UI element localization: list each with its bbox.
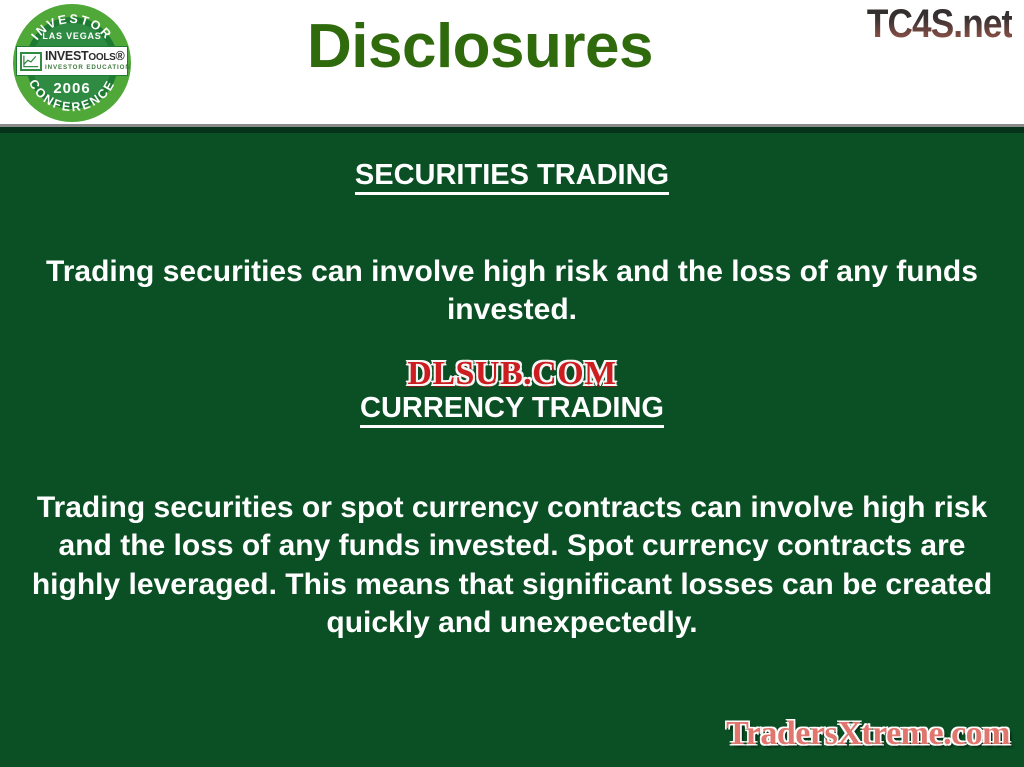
- section-heading-securities-trading: SECURITIES TRADING: [0, 159, 1024, 192]
- section-heading-currency-trading-text: CURRENCY TRADING: [360, 392, 664, 428]
- investools-wordmark: INVESTOOLS®: [45, 50, 131, 63]
- section-body-securities-trading: Trading securities can involve high risk…: [36, 253, 988, 330]
- chart-icon: [20, 52, 42, 71]
- tc4s-wordmark: TC4S.net: [866, 2, 1012, 47]
- section-body-currency-trading: Trading securities or spot currency cont…: [26, 489, 998, 643]
- section-heading-securities-trading-text: SECURITIES TRADING: [355, 159, 669, 195]
- investools-badge: INVESTOOLS® INVESTOR EDUCATION: [16, 46, 128, 76]
- slide-header: INVESTOR CONFERENCE LAS VEGAS INVESTOOLS…: [0, 0, 1024, 124]
- investools-conference-seal-logo: INVESTOR CONFERENCE LAS VEGAS INVESTOOLS…: [13, 4, 131, 122]
- seal-city-label: LAS VEGAS: [13, 31, 131, 41]
- dlsub-watermark-text: DLSUB.COM: [407, 355, 616, 393]
- seal-year-label: 2006: [13, 80, 131, 97]
- investools-badge-text: INVESTOOLS® INVESTOR EDUCATION: [45, 50, 131, 71]
- section-heading-currency-trading: CURRENCY TRADING: [0, 392, 1024, 425]
- investools-tagline: INVESTOR EDUCATION: [45, 65, 131, 71]
- tradersxtreme-wordmark: TradersXtreme.com: [726, 715, 1010, 753]
- slide-title: Disclosures: [150, 14, 810, 79]
- slide-body: SECURITIES TRADING Trading securities ca…: [0, 133, 1024, 767]
- dlsub-watermark: DLSUB.COM: [0, 355, 1024, 393]
- slide-canvas: INVESTOR CONFERENCE LAS VEGAS INVESTOOLS…: [0, 0, 1024, 767]
